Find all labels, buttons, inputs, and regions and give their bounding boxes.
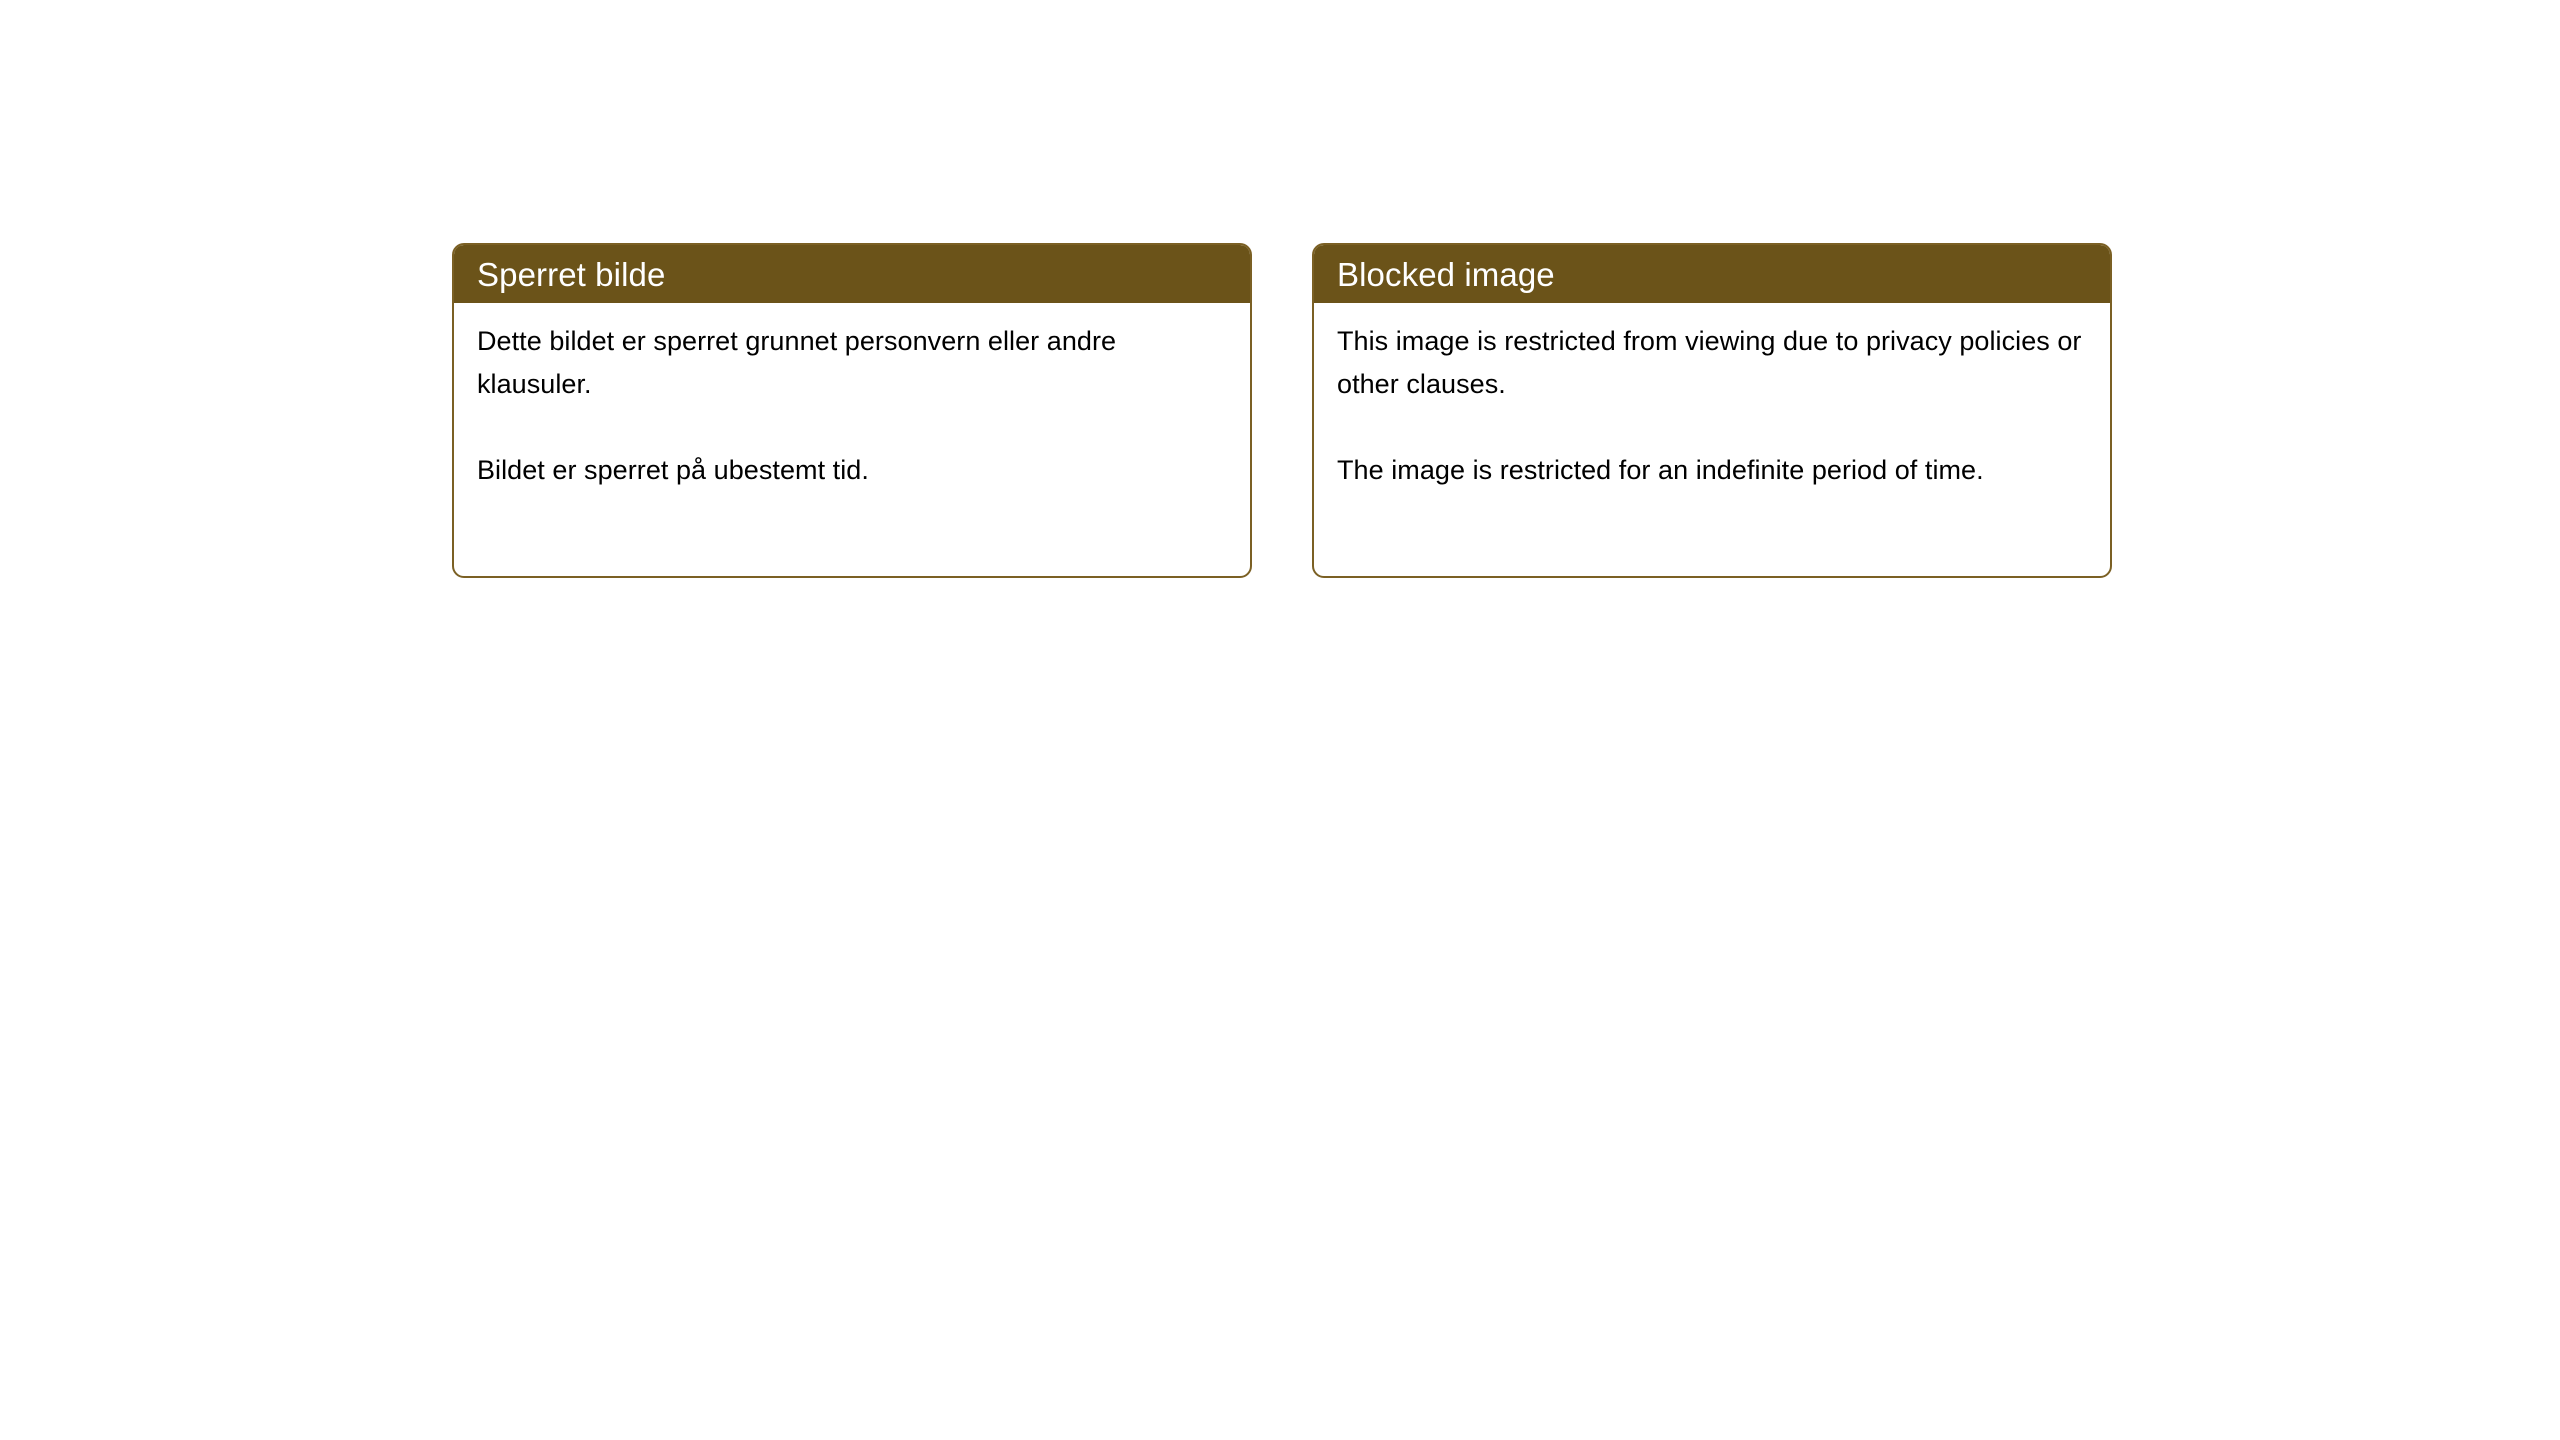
blocked-image-card-english: Blocked image This image is restricted f… bbox=[1312, 243, 2112, 578]
card-paragraph-primary-english: This image is restricted from viewing du… bbox=[1337, 320, 2086, 406]
card-title-norwegian: Sperret bilde bbox=[477, 258, 665, 291]
card-header-norwegian: Sperret bilde bbox=[454, 245, 1250, 303]
card-paragraph-secondary-norwegian: Bildet er sperret på ubestemt tid. bbox=[477, 449, 1226, 492]
paragraph-spacer-norwegian bbox=[477, 406, 1226, 449]
card-body-english: This image is restricted from viewing du… bbox=[1314, 303, 2110, 492]
card-header-english: Blocked image bbox=[1314, 245, 2110, 303]
card-body-norwegian: Dette bildet er sperret grunnet personve… bbox=[454, 303, 1250, 492]
page-root: Sperret bilde Dette bildet er sperret gr… bbox=[0, 0, 2560, 1440]
blocked-image-card-norwegian: Sperret bilde Dette bildet er sperret gr… bbox=[452, 243, 1252, 578]
card-title-english: Blocked image bbox=[1337, 258, 1555, 291]
paragraph-spacer-english bbox=[1337, 406, 2086, 449]
card-paragraph-primary-norwegian: Dette bildet er sperret grunnet personve… bbox=[477, 320, 1226, 406]
card-paragraph-secondary-english: The image is restricted for an indefinit… bbox=[1337, 449, 2086, 492]
